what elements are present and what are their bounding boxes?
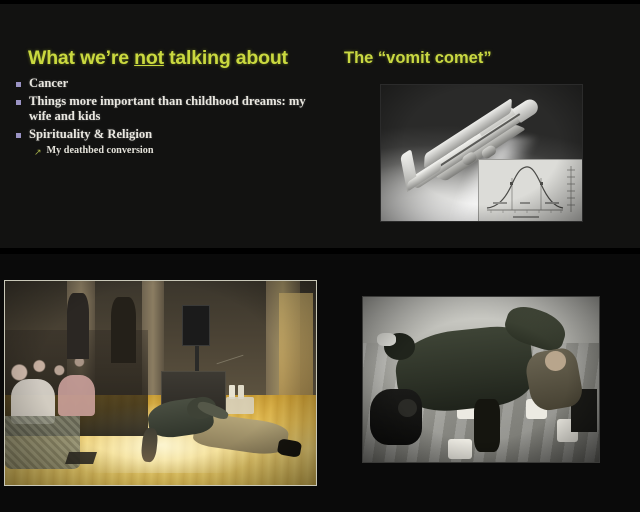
square-bullet-icon <box>16 100 21 105</box>
hall-doorway <box>279 293 313 395</box>
bullet-label: Things more important than childhood dre… <box>29 94 316 124</box>
bullet-label: Cancer <box>29 76 68 91</box>
sub-bullet-label: My deathbed conversion <box>47 145 154 157</box>
slide-title-right: The “vomit comet” <box>344 49 492 68</box>
zero-gravity-photo <box>362 296 600 463</box>
slide-title-text-before: What we’re <box>28 47 134 69</box>
screenshot-root: What we’re not talking about Cancer Thin… <box>0 0 640 512</box>
presentation-slide-top: What we’re not talking about Cancer Thin… <box>0 4 640 248</box>
lecture-hall-photo <box>4 280 317 486</box>
arrow-bullet-icon: ↗ <box>34 146 42 158</box>
trajectory-curve-svg <box>479 160 582 221</box>
bullet-label: Spirituality & Religion <box>29 127 152 142</box>
bullet-item: Cancer <box>16 76 316 91</box>
bullet-item: Spirituality & Religion <box>16 127 316 142</box>
vomit-comet-photo <box>380 84 583 222</box>
pa-speaker <box>182 305 210 346</box>
presenter-doing-pushup <box>139 395 301 473</box>
slide-bullet-list: Cancer Things more important than childh… <box>16 76 316 157</box>
slide-title-left: What we’re not talking about <box>28 47 288 70</box>
sub-bullet-item: ↗ My deathbed conversion <box>34 145 316 157</box>
presenter-shoe <box>277 438 302 457</box>
square-bullet-icon <box>16 82 21 87</box>
floor-marker <box>65 452 97 464</box>
parabolic-trajectory-inset-chart <box>478 159 582 221</box>
bottom-panel <box>0 254 640 512</box>
camera-operator <box>111 297 136 362</box>
slide-title-text-after: talking about <box>164 47 288 69</box>
presenter-supporting-arm <box>140 427 158 462</box>
slide-title-emphasis-not: not <box>134 47 164 69</box>
camera-operator <box>67 293 89 358</box>
audience-member <box>58 375 95 416</box>
photo-vignette <box>363 297 599 462</box>
square-bullet-icon <box>16 133 21 138</box>
bullet-item: Things more important than childhood dre… <box>16 94 316 124</box>
